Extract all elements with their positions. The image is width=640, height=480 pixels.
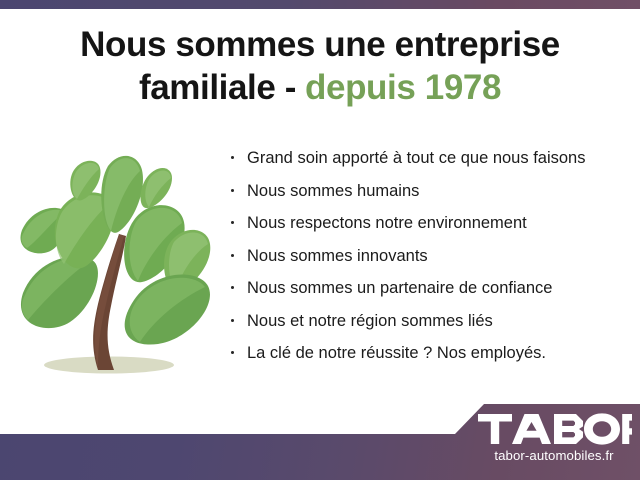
list-item: Nous et notre région sommes liés [228, 311, 632, 331]
list-item-label: Nous sommes humains [247, 182, 419, 200]
tree-leaves-right [124, 205, 210, 344]
list-item-label: La clé de notre réussite ? Nos employés. [247, 344, 546, 362]
bullet-dot-icon [231, 286, 234, 289]
headline-green-part: depuis 1978 [305, 68, 501, 107]
bullet-dot-icon [231, 319, 234, 322]
page-title: Nous sommes une entreprise familiale -de… [0, 24, 640, 109]
list-item: La clé de notre réussite ? Nos employés. [228, 343, 632, 363]
list-item: Grand soin apporté à tout ce que nous fa… [228, 148, 632, 168]
bullet-dot-icon [231, 254, 234, 257]
list-item: Nous respectons notre environnement [228, 213, 632, 233]
list-item-label: Nous sommes un partenaire de confiance [247, 279, 552, 297]
benefits-list: Grand soin apporté à tout ce que nous fa… [228, 148, 632, 376]
headline-line-1: Nous sommes une entreprise [0, 24, 640, 67]
tree-illustration [8, 148, 224, 388]
headline-line-2: familiale -depuis 1978 [0, 67, 640, 110]
list-item-label: Nous et notre région sommes liés [247, 312, 493, 330]
list-item: Nous sommes un partenaire de confiance [228, 278, 632, 298]
bullet-dot-icon [231, 351, 234, 354]
list-item: Nous sommes humains [228, 181, 632, 201]
brand-logo[interactable]: tabor-automobiles.fr [476, 412, 632, 463]
list-item-label: Nous respectons notre environnement [247, 214, 527, 232]
bullet-dot-icon [231, 221, 234, 224]
tree-illustration-svg [8, 148, 224, 388]
slide-canvas: Nous sommes une entreprise familiale -de… [0, 0, 640, 480]
footer-band: tabor-automobiles.fr [0, 396, 640, 480]
list-item: Nous sommes innovants [228, 246, 632, 266]
bullet-dot-icon [231, 189, 234, 192]
tabor-wordmark-icon [476, 412, 632, 446]
top-accent-bar [0, 0, 640, 9]
headline-dark-part: familiale - [139, 68, 296, 107]
list-item-label: Nous sommes innovants [247, 247, 428, 265]
list-item-label: Grand soin apporté à tout ce que nous fa… [247, 149, 585, 167]
logo-tagline: tabor-automobiles.fr [476, 448, 632, 463]
bullet-dot-icon [231, 156, 234, 159]
